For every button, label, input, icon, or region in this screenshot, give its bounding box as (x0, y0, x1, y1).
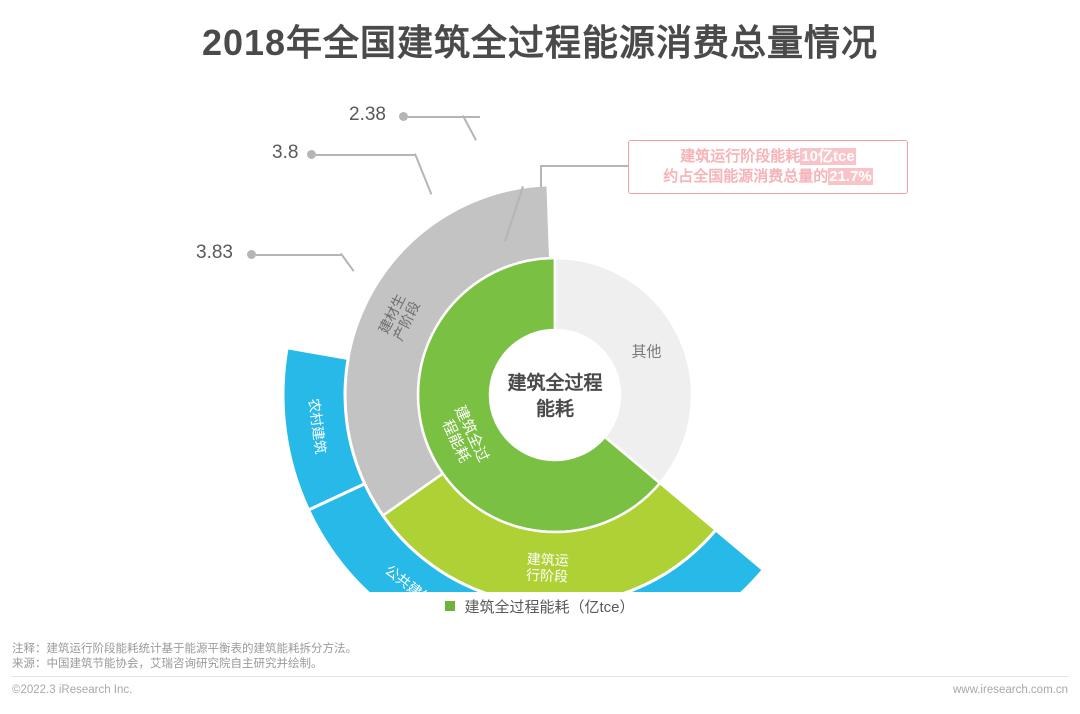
leader-dot-3-8 (307, 150, 316, 159)
page-title: 2018年全国建筑全过程能源消费总量情况 (0, 14, 1080, 66)
center-hole (490, 330, 620, 460)
chart-legend: 建筑全过程能耗（亿tce） (0, 596, 1080, 617)
source-line: 来源：中国建筑节能协会，艾瑞咨询研究院自主研究并绘制。 (12, 657, 772, 672)
leader-line-callout-v (540, 165, 542, 187)
legend-label: 建筑全过程能耗（亿tce） (464, 599, 634, 616)
value-label-2-38: 2.38 (349, 104, 386, 126)
callout-line2-highlight: 21.7% (828, 168, 873, 185)
callout-box: 建筑运行阶段能耗10亿tce 约占全国能源消费总量的21.7% (628, 140, 908, 194)
callout-line1-highlight: 10亿tce (800, 148, 855, 165)
ring-middle-label-0: 建筑运行阶段 (526, 550, 569, 584)
sunburst-svg: 建筑全过程能耗其他建筑运行阶段建材生产阶段城镇居建筑公共建筑农村建筑 建筑全过程… (0, 72, 1080, 592)
callout-line-1: 建筑运行阶段能耗10亿tce (680, 147, 855, 167)
center-label-line1: 建筑全过程 (507, 371, 602, 394)
legend-marker-icon (445, 601, 455, 611)
page-footer: ©2022.3 iResearch Inc. www.iresearch.com… (12, 684, 1068, 696)
value-label-3-8: 3.8 (272, 142, 298, 164)
leader-dot-3-83 (247, 250, 256, 259)
note-line: 注释：建筑运行阶段能耗统计基于能源平衡表的建筑能耗拆分方法。 (12, 642, 772, 657)
chart-notes: 注释：建筑运行阶段能耗统计基于能源平衡表的建筑能耗拆分方法。 来源：中国建筑节能… (12, 642, 772, 672)
callout-line1-prefix: 建筑运行阶段能耗 (680, 148, 800, 165)
leader-line-3-83-h (256, 254, 342, 256)
footer-divider (12, 676, 1068, 677)
leader-dot-2-38 (399, 112, 408, 121)
center-label-line2: 能耗 (536, 397, 574, 420)
callout-line-2: 约占全国能源消费总量的21.7% (663, 167, 873, 187)
ring-inner-label-1: 其他 (632, 343, 662, 360)
value-label-3-83: 3.83 (196, 242, 233, 264)
leader-line-2-38-h (408, 116, 480, 118)
callout-line2-prefix: 约占全国能源消费总量的 (663, 168, 828, 185)
leader-line-callout-h (540, 165, 636, 167)
leader-line-3-8-h (316, 154, 416, 156)
sunburst-chart: 建筑全过程能耗其他建筑运行阶段建材生产阶段城镇居建筑公共建筑农村建筑 建筑全过程… (0, 72, 1080, 592)
footer-copyright: ©2022.3 iResearch Inc. (12, 684, 132, 696)
footer-website: www.iresearch.com.cn (953, 684, 1068, 696)
